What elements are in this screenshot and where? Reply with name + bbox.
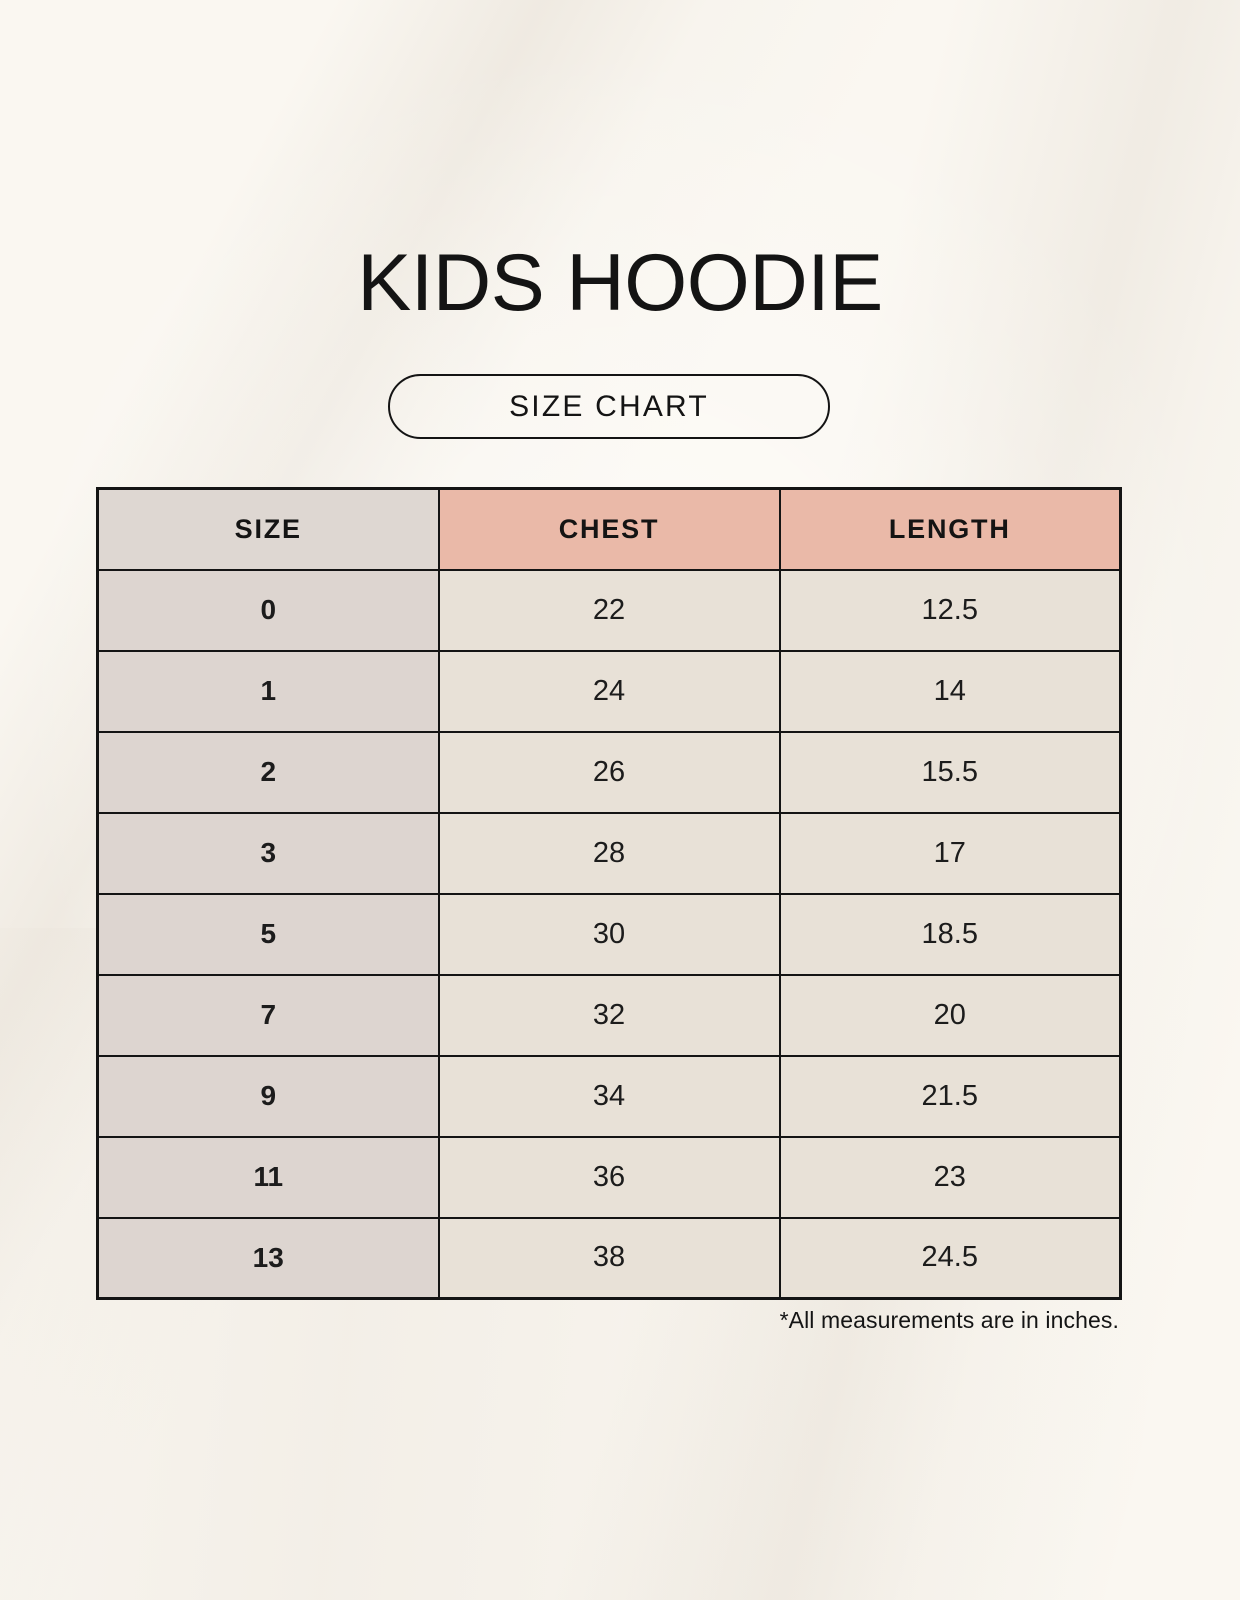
cell-chest: 36 <box>439 1137 780 1218</box>
table-row: 7 32 20 <box>98 975 1121 1056</box>
cell-chest: 34 <box>439 1056 780 1137</box>
cell-size: 9 <box>98 1056 439 1137</box>
cell-size: 7 <box>98 975 439 1056</box>
cell-size: 3 <box>98 813 439 894</box>
cell-chest: 26 <box>439 732 780 813</box>
cell-chest: 22 <box>439 570 780 651</box>
table-row: 1 24 14 <box>98 651 1121 732</box>
cell-length: 18.5 <box>780 894 1121 975</box>
cell-length: 20 <box>780 975 1121 1056</box>
size-chart-page: KIDS HOODIE SIZE CHART SIZE CHEST LENGTH… <box>0 0 1240 1600</box>
cell-length: 14 <box>780 651 1121 732</box>
cell-size: 11 <box>98 1137 439 1218</box>
table-row: 5 30 18.5 <box>98 894 1121 975</box>
cell-length: 23 <box>780 1137 1121 1218</box>
column-header-size: SIZE <box>98 489 439 570</box>
cell-length: 24.5 <box>780 1218 1121 1299</box>
column-header-length: LENGTH <box>780 489 1121 570</box>
cell-length: 21.5 <box>780 1056 1121 1137</box>
table-header: SIZE CHEST LENGTH <box>98 489 1121 570</box>
size-chart-table: SIZE CHEST LENGTH 0 22 12.5 1 24 14 2 <box>96 487 1122 1300</box>
measurement-units-note: *All measurements are in inches. <box>96 1307 1119 1334</box>
cell-size: 2 <box>98 732 439 813</box>
cell-chest: 38 <box>439 1218 780 1299</box>
size-table-container: SIZE CHEST LENGTH 0 22 12.5 1 24 14 2 <box>96 487 1119 1300</box>
column-header-chest: CHEST <box>439 489 780 570</box>
cell-chest: 32 <box>439 975 780 1056</box>
cell-length: 17 <box>780 813 1121 894</box>
size-chart-badge: SIZE CHART <box>388 374 830 439</box>
table-row: 3 28 17 <box>98 813 1121 894</box>
page-title: KIDS HOODIE <box>0 243 1240 324</box>
cell-chest: 28 <box>439 813 780 894</box>
table-row: 13 38 24.5 <box>98 1218 1121 1299</box>
cell-length: 15.5 <box>780 732 1121 813</box>
size-chart-badge-label: SIZE CHART <box>509 390 709 424</box>
cell-chest: 24 <box>439 651 780 732</box>
table-row: 11 36 23 <box>98 1137 1121 1218</box>
cell-size: 5 <box>98 894 439 975</box>
cell-chest: 30 <box>439 894 780 975</box>
table-header-row: SIZE CHEST LENGTH <box>98 489 1121 570</box>
table-row: 9 34 21.5 <box>98 1056 1121 1137</box>
cell-length: 12.5 <box>780 570 1121 651</box>
cell-size: 1 <box>98 651 439 732</box>
cell-size: 0 <box>98 570 439 651</box>
table-body: 0 22 12.5 1 24 14 2 26 15.5 3 28 17 <box>98 570 1121 1299</box>
table-row: 0 22 12.5 <box>98 570 1121 651</box>
table-row: 2 26 15.5 <box>98 732 1121 813</box>
cell-size: 13 <box>98 1218 439 1299</box>
